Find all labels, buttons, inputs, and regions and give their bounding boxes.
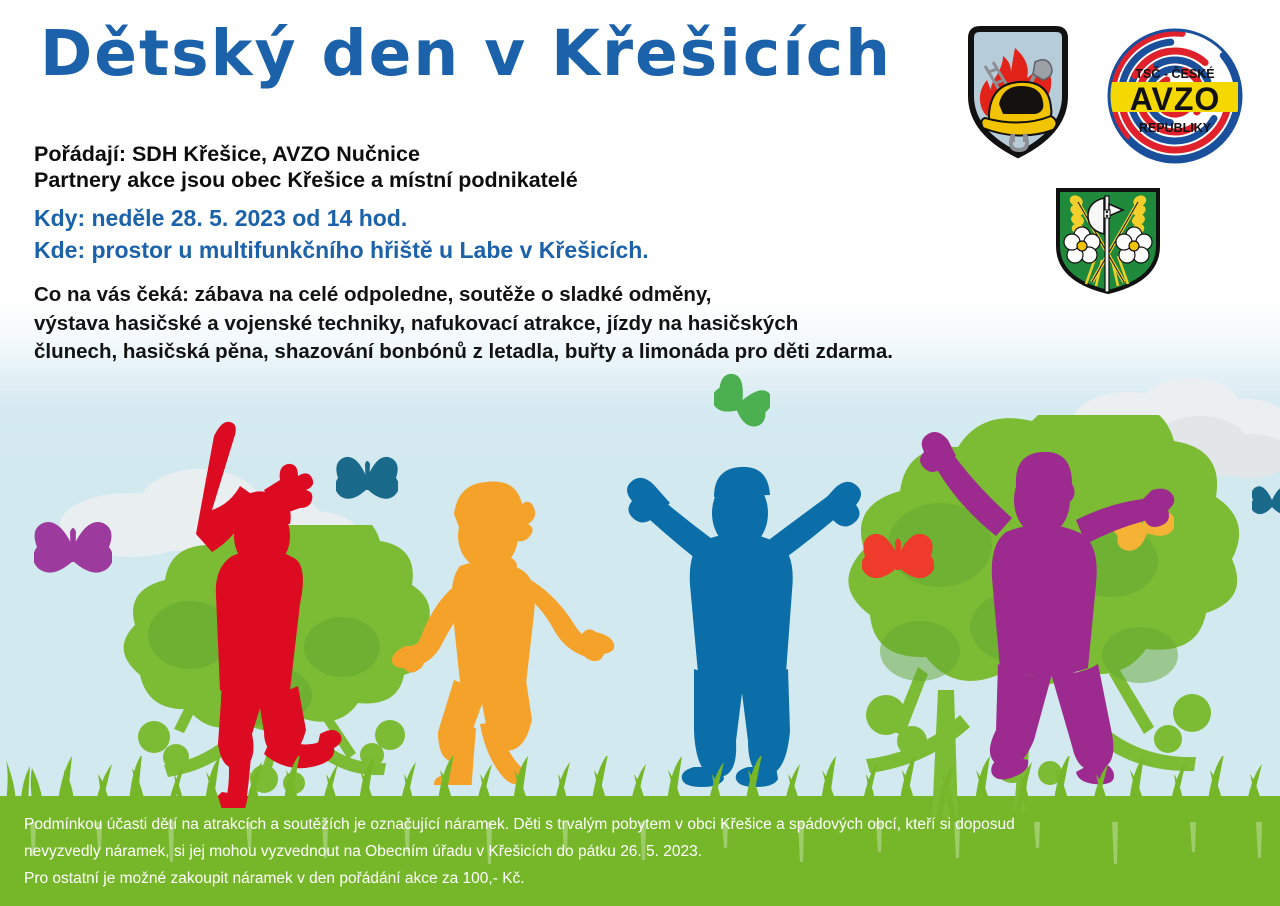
child-silhouette-blue <box>620 455 890 790</box>
butterfly-teal-small <box>1252 482 1280 520</box>
butterfly-green <box>714 372 770 430</box>
obec-kresice-coat-of-arms <box>1052 186 1164 296</box>
avzo-text-bottom: REPUBLIKY <box>1139 121 1212 135</box>
organizers-line: Pořádají: SDH Křešice, AVZO Nučnice <box>34 140 420 168</box>
avzo-text-main: AVZO <box>1130 81 1221 117</box>
program-line-1: Co na vás čeká: zábava na celé odpoledne… <box>34 281 893 310</box>
program-line-2: výstava hasičské a vojenské techniky, na… <box>34 310 893 339</box>
page-title: Dětský den v Křešicích <box>40 22 892 85</box>
when-line: Kdy: neděle 28. 5. 2023 od 14 hod. <box>34 203 407 233</box>
butterfly-purple <box>34 516 112 578</box>
avzo-text-top: TSČ - ČESKÉ <box>1135 66 1214 81</box>
footer-conditions-text: Podmínkou účasti dětí na atrakcích a sou… <box>24 811 1015 892</box>
poster-root: TSČ - ČESKÉ AVZO REPUBLIKY <box>0 0 1280 906</box>
footer-line-3: Pro ostatní je možné zakoupit náramek v … <box>24 865 1015 892</box>
child-silhouette-red <box>170 418 360 808</box>
program-line-3: člunech, hasičská pěna, shazování bonbón… <box>34 338 893 367</box>
avzo-logo: TSČ - ČESKÉ AVZO REPUBLIKY <box>1104 26 1246 166</box>
footer-line-1: Podmínkou účasti dětí na atrakcích a sou… <box>24 811 1015 838</box>
partners-line: Partnery akce jsou obec Křešice a místní… <box>34 166 578 194</box>
where-line: Kde: prostor u multifunkčního hřiště u L… <box>34 235 649 265</box>
child-silhouette-purple <box>900 428 1190 798</box>
footer-line-2: nevyzvedly náramek, si jej mohou vyzvedn… <box>24 838 1015 865</box>
program-text: Co na vás čeká: zábava na celé odpoledne… <box>34 281 893 367</box>
child-silhouette-orange <box>388 470 638 785</box>
sdh-fire-brigade-emblem <box>963 22 1073 162</box>
